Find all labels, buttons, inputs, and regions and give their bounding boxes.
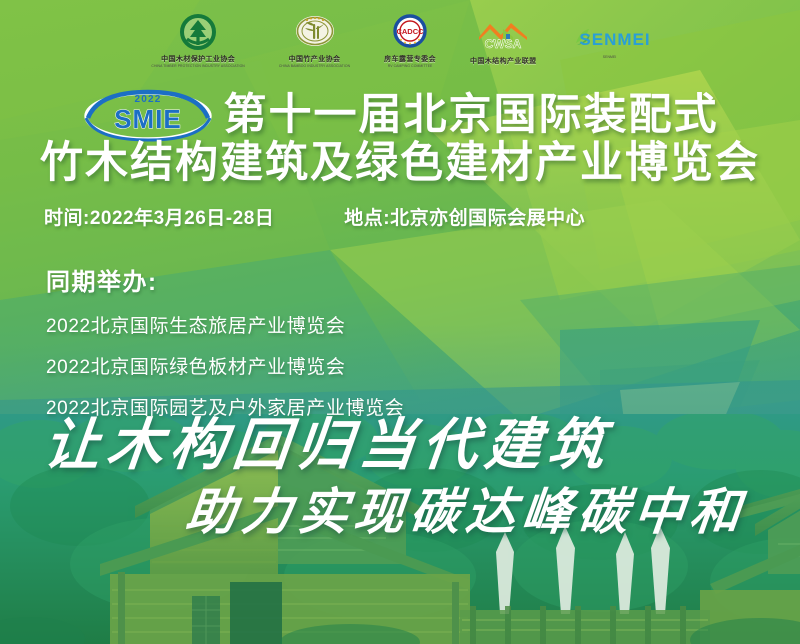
logo-senmei[interactable]: SENMEI SENMEI bbox=[571, 21, 649, 59]
expo-poster: 中国木材保护工业协会 CHINA TIMBER PROTECTION INDUS… bbox=[0, 0, 800, 644]
smie-abbr: SMIE bbox=[114, 104, 182, 134]
leaf-sprout-icon: SENMEI bbox=[571, 21, 649, 55]
svg-text:CWSA: CWSA bbox=[485, 37, 522, 51]
logo-label-cn: 中国木材保护工业协会 bbox=[161, 54, 235, 64]
logo-label-cn: 中国竹产业协会 bbox=[289, 54, 341, 64]
slogan-line-1: 让木构回归当代建筑 bbox=[41, 418, 614, 474]
event-venue: 地点:北京亦创国际会展中心 bbox=[344, 203, 585, 230]
concurrent-events-block: 同期举办: 2022北京国际生态旅居产业博览会 2022北京国际绿色板材产业博览… bbox=[46, 262, 404, 434]
title-row: 2022 SMIE 第十一届北京国际装配式 bbox=[0, 88, 800, 142]
concurrent-heading: 同期举办: bbox=[46, 262, 404, 297]
tree-in-circle-icon bbox=[175, 13, 221, 53]
svg-text:CADCC: CADCC bbox=[397, 27, 425, 36]
bamboo-seal-icon bbox=[292, 13, 338, 53]
concurrent-event-2: 2022北京国际绿色板材产业博览会 bbox=[46, 352, 404, 379]
cadcc-badge-icon: CADCC bbox=[387, 13, 433, 53]
smie-ellipse-logo: 2022 SMIE bbox=[82, 88, 214, 142]
event-date: 时间:2022年3月26日-28日 bbox=[44, 203, 274, 230]
logo-label-en: SENMEI bbox=[603, 55, 617, 59]
event-meta-row: 时间:2022年3月26日-28日 地点:北京亦创国际会展中心 bbox=[44, 203, 756, 230]
logo-label-cn: 房车露营专委会 bbox=[384, 54, 436, 64]
wooden-fence bbox=[460, 606, 710, 644]
logo-china-timber-protection[interactable]: 中国木材保护工业协会 CHINA TIMBER PROTECTION INDUS… bbox=[151, 13, 244, 68]
logo-label-en: RV CAMPING COMMITTEE bbox=[388, 64, 433, 68]
association-logo-strip: 中国木材保护工业协会 CHINA TIMBER PROTECTION INDUS… bbox=[0, 0, 800, 76]
logo-label-en: CHINA BAMBOO INDUSTRY ASSOCIATION bbox=[279, 64, 350, 68]
logo-label-cn: 中国木结构产业联盟 bbox=[470, 56, 537, 66]
logo-label-en: CHINA TIMBER PROTECTION INDUSTRY ASSOCIA… bbox=[151, 64, 244, 68]
house-roof-icon: CWSA bbox=[473, 15, 533, 55]
logo-cadcc-rv-camping[interactable]: CADCC 房车露营专委会 RV CAMPING COMMITTEE bbox=[384, 13, 436, 68]
slogan-line-2: 助力实现碳达峰碳中和 bbox=[183, 487, 748, 537]
concurrent-event-1: 2022北京国际生态旅居产业博览会 bbox=[46, 311, 404, 338]
svg-text:SENMEI: SENMEI bbox=[579, 30, 649, 49]
title-line-1: 第十一届北京国际装配式 bbox=[224, 94, 719, 137]
logo-cwsa-wood-structure[interactable]: CWSA 中国木结构产业联盟 bbox=[470, 15, 537, 66]
title-line-2: 竹木结构建筑及绿色建材产业博览会 bbox=[0, 142, 800, 185]
logo-china-bamboo-industry[interactable]: 中国竹产业协会 CHINA BAMBOO INDUSTRY ASSOCIATIO… bbox=[279, 13, 350, 68]
